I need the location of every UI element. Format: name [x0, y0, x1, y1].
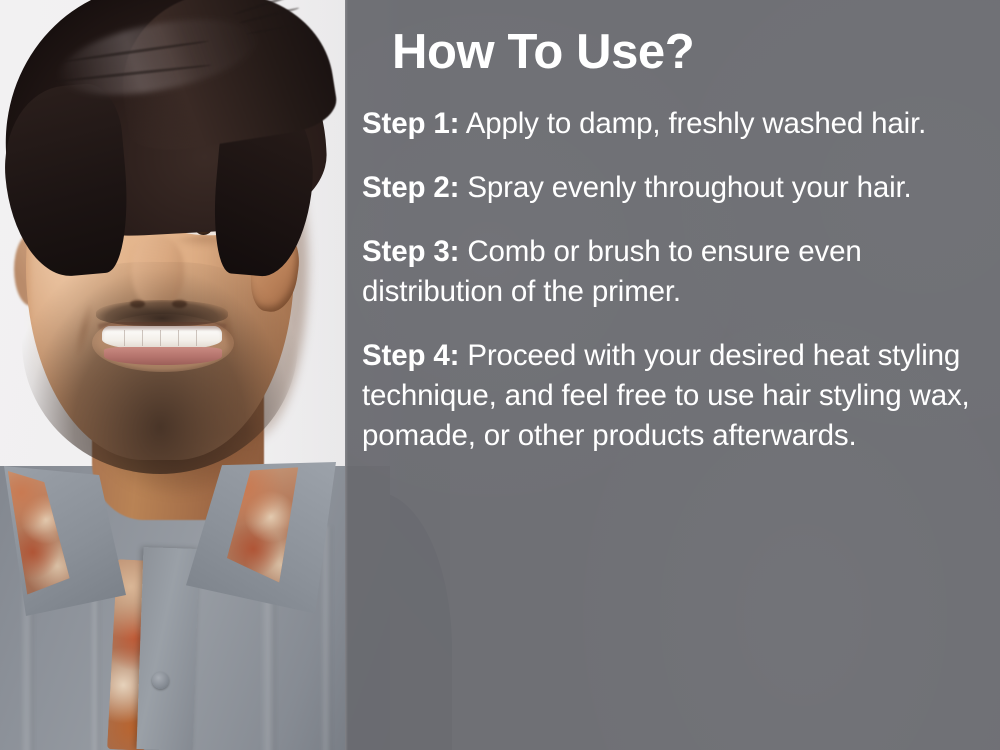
shirt-button	[152, 672, 169, 689]
instructions-panel: How To Use? Step 1: Apply to damp, fresh…	[345, 0, 1000, 750]
step-item-3: Step 3: Comb or brush to ensure even dis…	[362, 232, 982, 312]
step-label-2: Step 2:	[362, 171, 459, 204]
step-item-4: Step 4: Proceed with your desired heat s…	[362, 336, 982, 456]
step-item-1: Step 1: Apply to damp, freshly washed ha…	[362, 104, 982, 144]
nose	[132, 236, 184, 310]
step-label-4: Step 4:	[362, 339, 459, 372]
step-text-1: Apply to damp, freshly washed hair.	[459, 107, 926, 140]
smiling-mouth	[96, 322, 228, 370]
slide-canvas: How To Use? Step 1: Apply to damp, fresh…	[0, 0, 1000, 750]
step-item-2: Step 2: Spray evenly throughout your hai…	[362, 168, 982, 208]
page-title: How To Use?	[392, 24, 694, 80]
upper-lip	[98, 322, 226, 330]
step-label-3: Step 3:	[362, 235, 459, 268]
panel-left-edge	[345, 0, 348, 750]
steps-list: Step 1: Apply to damp, freshly washed ha…	[362, 104, 982, 456]
step-label-1: Step 1:	[362, 107, 459, 140]
lower-lip	[104, 347, 222, 365]
step-text-2: Spray evenly throughout your hair.	[459, 171, 911, 204]
